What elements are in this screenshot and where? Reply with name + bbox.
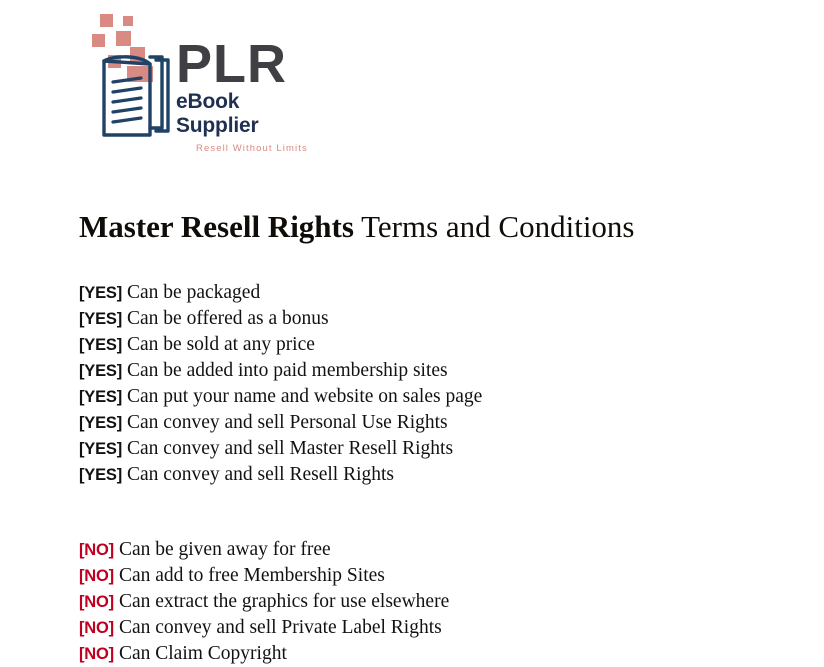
logo-tagline: Resell Without Limits xyxy=(196,142,322,156)
rights-item-label: Can convey and sell Resell Rights xyxy=(127,464,394,485)
status-badge-yes: [YES] xyxy=(79,440,122,458)
rights-item-label: Can put your name and website on sales p… xyxy=(127,386,482,407)
status-badge-yes: [YES] xyxy=(79,414,122,432)
status-badge-yes: [YES] xyxy=(79,336,122,354)
plr-ebook-supplier-logo: PLR eBook Supplier Resell Without Limits xyxy=(92,14,322,142)
status-badge-no: [NO] xyxy=(79,541,114,559)
list-item: [YES]Can convey and sell Master Resell R… xyxy=(79,436,759,462)
list-item: [YES]Can convey and sell Resell Rights xyxy=(79,462,759,488)
decorative-square xyxy=(116,31,131,46)
list-item: [YES]Can put your name and website on sa… xyxy=(79,384,759,410)
decorative-square xyxy=(100,14,113,27)
status-badge-no: [NO] xyxy=(79,567,114,585)
list-item: [YES]Can be offered as a bonus xyxy=(79,306,759,332)
rights-item-label: Can convey and sell Master Resell Rights xyxy=(127,438,453,459)
status-badge-yes: [YES] xyxy=(79,284,122,302)
page-title-remainder: Terms and Conditions xyxy=(354,209,635,244)
list-item: [YES]Can be packaged xyxy=(79,280,759,306)
status-badge-yes: [YES] xyxy=(79,466,122,484)
list-item: [NO]Can convey and sell Private Label Ri… xyxy=(79,615,759,641)
logo-subtitle: eBook Supplier xyxy=(176,90,322,138)
list-item: [YES]Can be sold at any price xyxy=(79,332,759,358)
rights-terms-section: [YES]Can be packaged [YES]Can be offered… xyxy=(79,280,759,667)
page-title: Master Resell Rights Terms and Condition… xyxy=(79,207,635,247)
page-title-emphasis: Master Resell Rights xyxy=(79,209,354,244)
list-item: [NO]Can extract the graphics for use els… xyxy=(79,589,759,615)
status-badge-yes: [YES] xyxy=(79,362,122,380)
list-item: [NO]Can Claim Copyright xyxy=(79,641,759,667)
logo-wordmark: PLR eBook Supplier Resell Without Limits xyxy=(176,38,322,156)
denied-rights-list: [NO]Can be given away for free [NO]Can a… xyxy=(79,537,759,667)
list-item: [YES]Can convey and sell Personal Use Ri… xyxy=(79,410,759,436)
logo-brand-name: PLR xyxy=(176,38,322,90)
decorative-square xyxy=(123,16,133,26)
rights-item-label: Can extract the graphics for use elsewhe… xyxy=(119,591,449,612)
rights-item-label: Can be given away for free xyxy=(119,539,331,560)
rights-item-label: Can be offered as a bonus xyxy=(127,308,329,329)
rights-item-label: Can be added into paid membership sites xyxy=(127,360,448,381)
status-badge-yes: [YES] xyxy=(79,310,122,328)
rights-item-label: Can convey and sell Private Label Rights xyxy=(119,617,442,638)
status-badge-no: [NO] xyxy=(79,619,114,637)
list-item: [NO]Can be given away for free xyxy=(79,537,759,563)
open-book-icon xyxy=(96,51,178,141)
rights-item-label: Can Claim Copyright xyxy=(119,643,287,664)
rights-item-label: Can be sold at any price xyxy=(127,334,315,355)
status-badge-yes: [YES] xyxy=(79,388,122,406)
rights-item-label: Can convey and sell Personal Use Rights xyxy=(127,412,448,433)
status-badge-no: [NO] xyxy=(79,593,114,611)
status-badge-no: [NO] xyxy=(79,645,114,663)
list-item: [NO]Can add to free Membership Sites xyxy=(79,563,759,589)
decorative-square xyxy=(92,34,105,47)
rights-item-label: Can be packaged xyxy=(127,282,260,303)
document-page: PLR eBook Supplier Resell Without Limits… xyxy=(0,0,824,662)
rights-item-label: Can add to free Membership Sites xyxy=(119,565,385,586)
allowed-rights-list: [YES]Can be packaged [YES]Can be offered… xyxy=(79,280,759,488)
list-item: [YES]Can be added into paid membership s… xyxy=(79,358,759,384)
